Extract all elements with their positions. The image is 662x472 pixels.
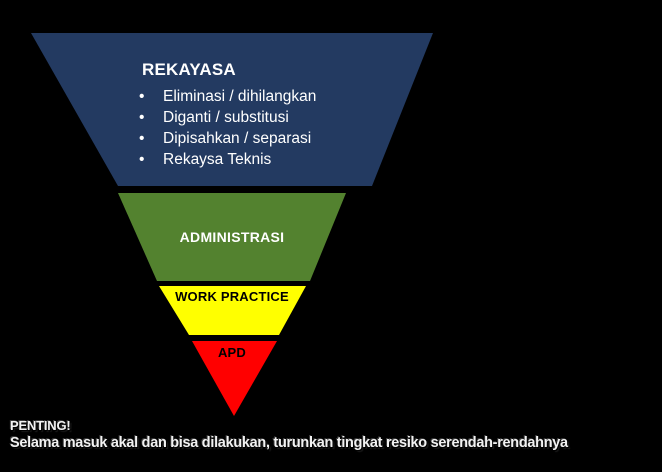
list-item-label: Diganti / substitusi [163,109,289,126]
level-item-list-rekayasa: • Eliminasi / dihilangkan • Diganti / su… [136,86,316,170]
list-item: • Dipisahkan / separasi [136,128,316,149]
list-item-label: Rekaysa Teknis [163,151,271,168]
bullet-icon: • [139,86,144,107]
bullet-icon: • [139,128,144,149]
level-shape-work-practice[interactable] [159,286,306,335]
level-shape-apd[interactable] [192,341,277,416]
level-shape-administrasi[interactable] [118,193,346,281]
list-item-label: Dipisahkan / separasi [163,130,311,147]
note-heading: PENTING! [10,418,660,434]
bullet-icon: • [139,149,144,170]
bullet-icon: • [139,107,144,128]
inverted-pyramid-graphic [0,0,662,472]
note-body: Selama masuk akal dan bisa dilakukan, tu… [10,434,660,453]
list-item: • Eliminasi / dihilangkan [136,86,316,107]
list-item: • Rekaysa Teknis [136,149,316,170]
slide-canvas: REKAYASA • Eliminasi / dihilangkan • Dig… [0,0,662,472]
important-note: PENTING! Selama masuk akal dan bisa dila… [10,418,660,453]
list-item: • Diganti / substitusi [136,107,316,128]
list-item-label: Eliminasi / dihilangkan [163,88,316,105]
